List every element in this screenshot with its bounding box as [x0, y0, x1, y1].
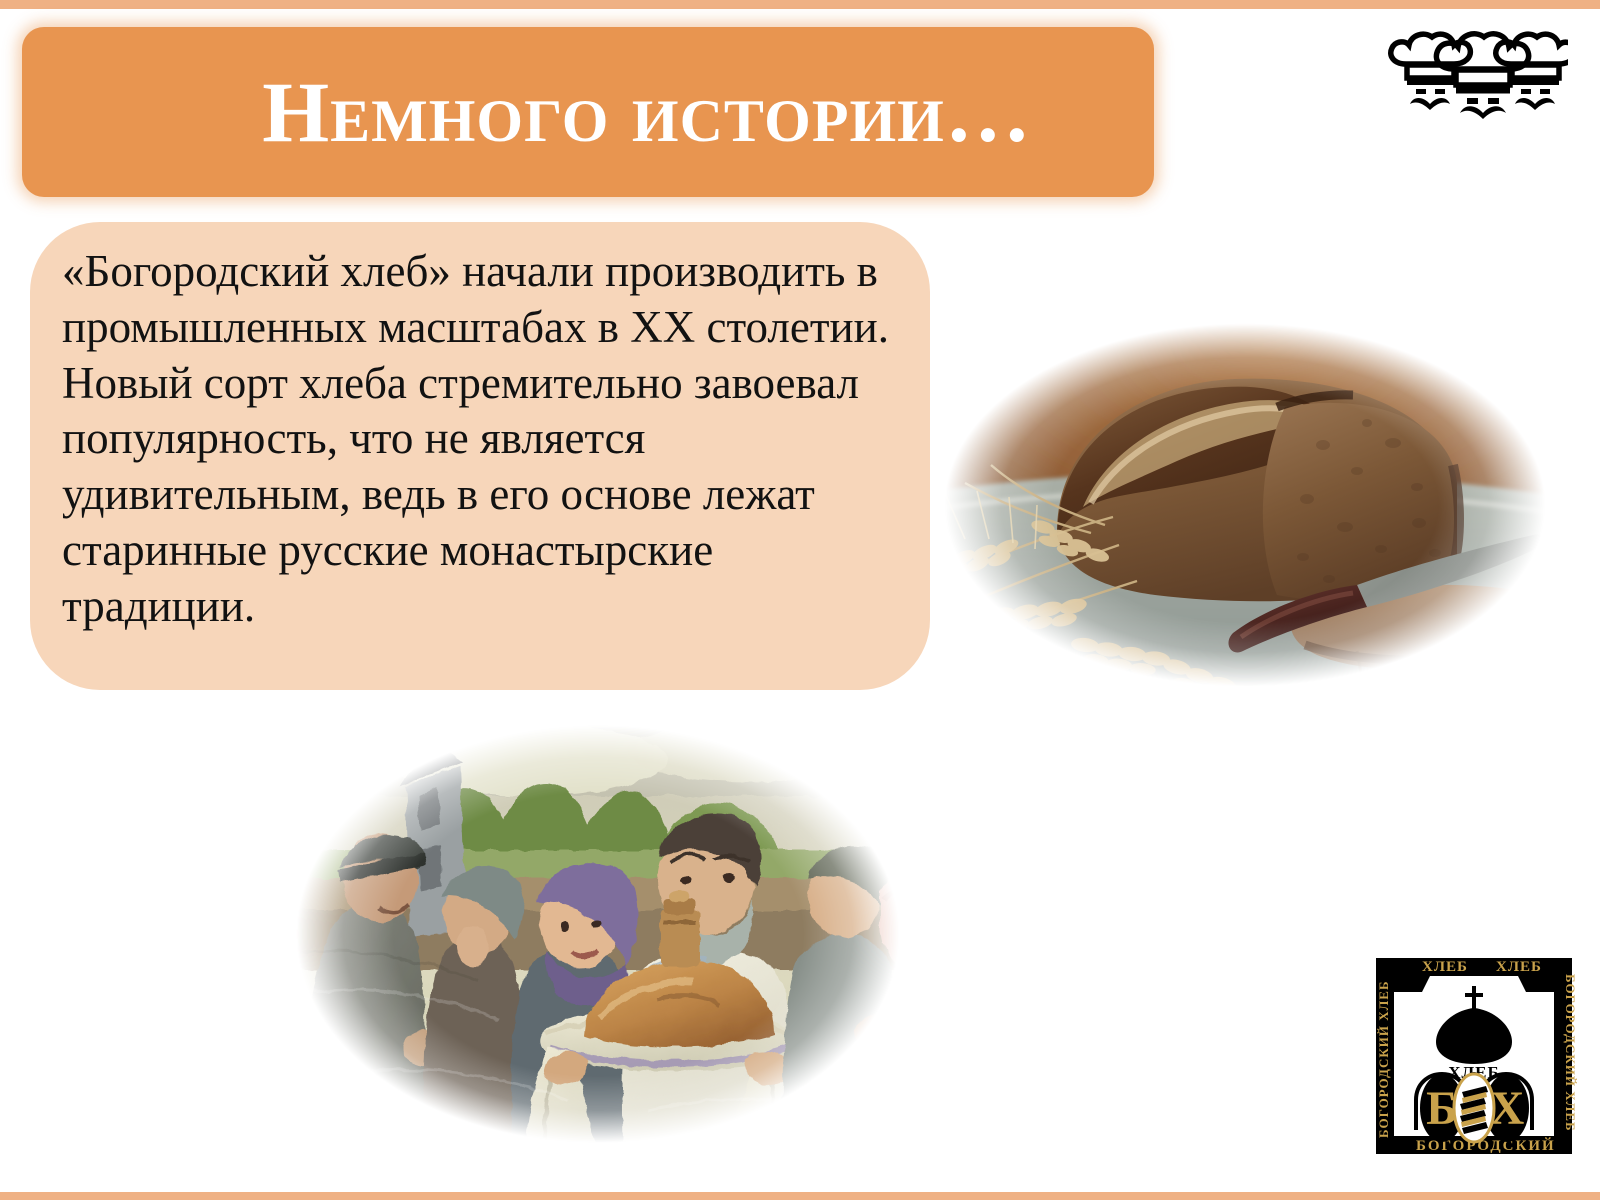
- logo-right-side-word: БОГОРОДСКИЙ ХЛЕБ: [1563, 974, 1578, 1132]
- logo-top-right-word: ХЛЕБ: [1496, 959, 1542, 975]
- chef-hats-icon: [1380, 22, 1568, 126]
- slide-canvas: Немного истории…: [0, 0, 1600, 1200]
- body-text-card: «Богородский хлеб» начали производить в …: [30, 222, 930, 690]
- bottom-accent-strip: [0, 1192, 1600, 1200]
- page-title: Немного истории…: [22, 27, 1154, 197]
- logo-top-left-word: ХЛЕБ: [1422, 959, 1468, 975]
- peasants-painting: [228, 700, 968, 1168]
- title-banner: Немного истории…: [22, 27, 1154, 197]
- logo-left-side-word: БОГОРОДСКИЙ ХЛЕБ: [1376, 980, 1391, 1138]
- top-accent-strip: [0, 0, 1600, 9]
- bread-photo: [905, 295, 1585, 715]
- body-paragraph: «Богородский хлеб» начали производить в …: [62, 244, 904, 635]
- company-logo: ХЛЕБ ХЛЕБ БОГОРОДСКИЙ БОГОРОДСКИЙ ХЛЕБ Б…: [1370, 952, 1578, 1160]
